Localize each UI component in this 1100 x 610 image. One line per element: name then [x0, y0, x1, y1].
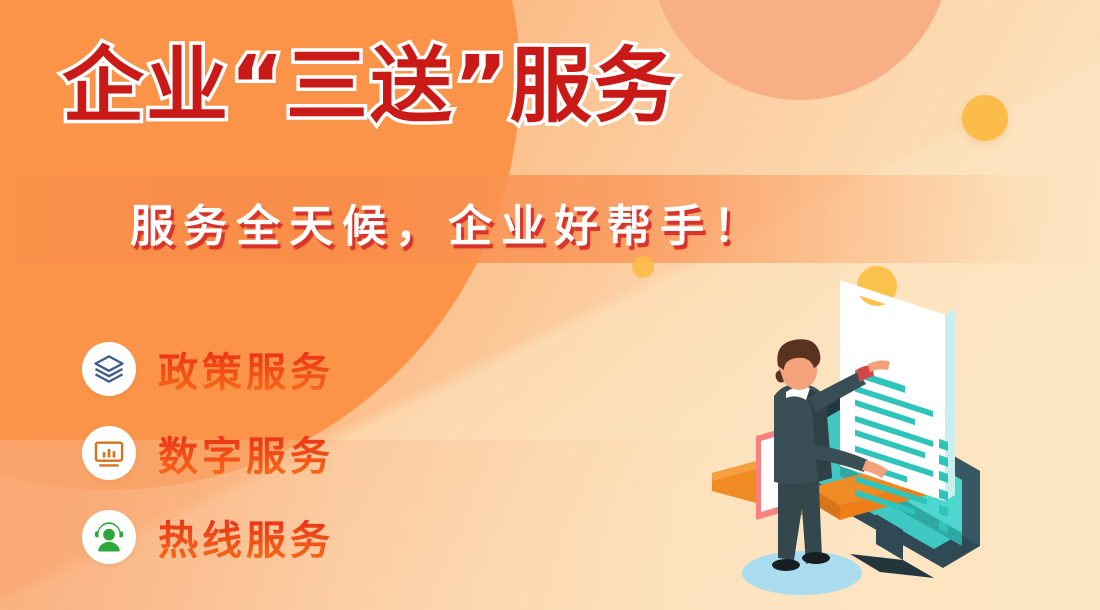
feature-label-hotline: 热线服务 [158, 508, 334, 566]
background-dot-yellow [632, 256, 654, 278]
promo-banner: 企业“三送”服务 服务全天候，企业好帮手！ 政策服务 [0, 0, 1100, 610]
headset-person-icon [82, 510, 136, 564]
feature-label-policy: 政策服务 [158, 340, 334, 398]
feature-item-digital[interactable]: 数字服务 [82, 424, 334, 482]
hero-illustration [690, 258, 1090, 610]
page-title: 企业“三送”服务 [62, 44, 678, 130]
monitor-chart-icon [82, 426, 136, 480]
background-circle-yellow [962, 95, 1008, 141]
feature-label-digital: 数字服务 [158, 424, 334, 482]
layers-icon [82, 342, 136, 396]
page-subtitle: 服务全天候，企业好帮手！ [130, 190, 766, 254]
feature-item-hotline[interactable]: 热线服务 [82, 508, 334, 566]
feature-item-policy[interactable]: 政策服务 [82, 340, 334, 398]
feature-list: 政策服务 数字服务 [82, 340, 334, 566]
floor-shadow-ellipse [742, 551, 862, 595]
